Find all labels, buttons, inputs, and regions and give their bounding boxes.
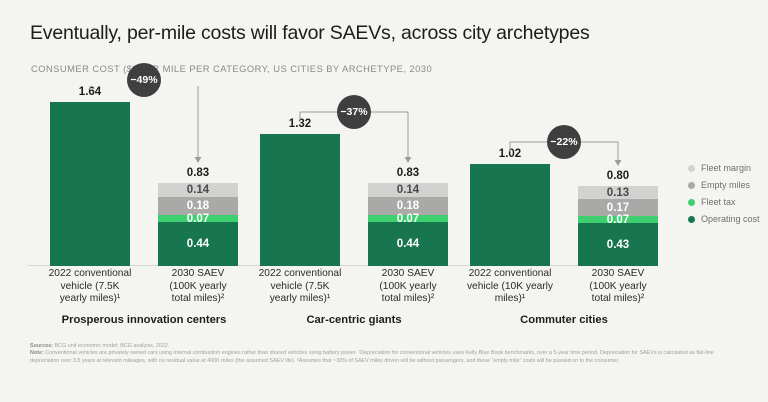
delta-badge: −37% bbox=[337, 95, 371, 129]
chart-legend: Fleet marginEmpty milesFleet taxOperatin… bbox=[688, 160, 768, 228]
legend-label: Fleet margin bbox=[701, 163, 751, 173]
x-axis-label: 2030 SAEV(100K yearlytotal miles)² bbox=[564, 268, 672, 306]
chart-subtitle: CONSUMER COST ($) PER MILE PER CATEGORY,… bbox=[31, 63, 432, 74]
legend-label: Fleet tax bbox=[701, 197, 736, 207]
bar-total-label: 1.64 bbox=[50, 86, 130, 98]
group-label: Commuter cities bbox=[454, 314, 674, 326]
bar-total-label: 1.02 bbox=[470, 148, 550, 160]
x-axis-label-line: 2022 conventional bbox=[246, 268, 354, 281]
chart-plot-area: 1.640.140.180.070.440.83−49%1.320.140.18… bbox=[28, 86, 658, 266]
x-axis-label-line: total miles)² bbox=[564, 293, 672, 306]
group-label: Car-centric giants bbox=[244, 314, 464, 326]
footnote-note-text: Conventional vehicles are privately owne… bbox=[30, 350, 714, 363]
x-axis-label-line: (100K yearly bbox=[354, 281, 462, 294]
bar-segment-operating-cost: 0.43 bbox=[578, 223, 658, 266]
bar-segment-total bbox=[50, 102, 130, 266]
footnote-sources-text: BCG unit economic model; BCG analysis, 2… bbox=[55, 343, 170, 349]
x-axis-label-line: 2022 conventional bbox=[36, 268, 144, 281]
x-axis-label-line: total miles)² bbox=[144, 293, 252, 306]
legend-item[interactable]: Fleet tax bbox=[688, 194, 768, 210]
delta-badge: −22% bbox=[547, 125, 581, 159]
bar-segment-operating-cost: 0.44 bbox=[368, 222, 448, 266]
x-axis-label-line: 2030 SAEV bbox=[354, 268, 462, 281]
bar-segment-fleet-margin: 0.14 bbox=[368, 183, 448, 197]
x-axis-label-line: yearly miles)¹ bbox=[246, 293, 354, 306]
bar-conventional bbox=[50, 102, 130, 266]
bar-total-label: 0.80 bbox=[578, 170, 658, 182]
x-axis-label: 2030 SAEV(100K yearlytotal miles)² bbox=[144, 268, 252, 306]
bar-total-label: 0.83 bbox=[158, 167, 238, 179]
legend-item[interactable]: Operating cost bbox=[688, 211, 768, 227]
bar-segment-total bbox=[260, 134, 340, 266]
legend-label: Operating cost bbox=[701, 214, 760, 224]
x-axis-label: 2022 conventionalvehicle (10K yearlymile… bbox=[456, 268, 564, 306]
legend-swatch-icon bbox=[688, 182, 695, 189]
x-axis-label: 2030 SAEV(100K yearlytotal miles)² bbox=[354, 268, 462, 306]
x-axis-label-line: 2022 conventional bbox=[456, 268, 564, 281]
x-axis-label-line: 2030 SAEV bbox=[144, 268, 252, 281]
bar-total-label: 0.83 bbox=[368, 167, 448, 179]
bar-segment-fleet-tax: 0.07 bbox=[158, 215, 238, 222]
bar-saev: 0.140.180.070.44 bbox=[158, 183, 238, 266]
group-label: Prosperous innovation centers bbox=[34, 314, 254, 326]
bar-segment-fleet-tax: 0.07 bbox=[578, 216, 658, 223]
footnote-note-label: Note: bbox=[30, 350, 44, 356]
x-axis-label-line: vehicle (7.5K bbox=[246, 281, 354, 294]
bar-total-label: 1.32 bbox=[260, 118, 340, 130]
footnote-sources: Sources: BCG unit economic model; BCG an… bbox=[30, 343, 742, 350]
bar-segment-operating-cost: 0.44 bbox=[158, 222, 238, 266]
bar-segment-fleet-margin: 0.14 bbox=[158, 183, 238, 197]
legend-label: Empty miles bbox=[701, 180, 750, 190]
legend-swatch-icon bbox=[688, 165, 695, 172]
footnote-sources-label: Sources: bbox=[30, 343, 53, 349]
x-axis-label-line: 2030 SAEV bbox=[564, 268, 672, 281]
x-axis-label-line: vehicle (10K yearly bbox=[456, 281, 564, 294]
x-axis-label: 2022 conventionalvehicle (7.5Kyearly mil… bbox=[246, 268, 354, 306]
bar-saev: 0.140.180.070.44 bbox=[368, 183, 448, 266]
footnote-note: Note: Conventional vehicles are privatel… bbox=[30, 350, 742, 365]
page-title: Eventually, per-mile costs will favor SA… bbox=[30, 22, 590, 45]
delta-badge: −49% bbox=[127, 63, 161, 97]
x-axis-labels: 2022 conventionalvehicle (7.5Kyearly mil… bbox=[28, 268, 658, 330]
footnotes: Sources: BCG unit economic model; BCG an… bbox=[30, 343, 742, 365]
x-axis-label-line: vehicle (7.5K bbox=[36, 281, 144, 294]
bar-conventional bbox=[260, 134, 340, 266]
x-axis-label-line: miles)¹ bbox=[456, 293, 564, 306]
bar-segment-total bbox=[470, 164, 550, 266]
bar-saev: 0.130.170.070.43 bbox=[578, 186, 658, 266]
legend-swatch-icon bbox=[688, 199, 695, 206]
x-axis-label-line: total miles)² bbox=[354, 293, 462, 306]
legend-item[interactable]: Empty miles bbox=[688, 177, 768, 193]
x-axis-label-line: yearly miles)¹ bbox=[36, 293, 144, 306]
x-axis-label: 2022 conventionalvehicle (7.5Kyearly mil… bbox=[36, 268, 144, 306]
x-axis-label-line: (100K yearly bbox=[144, 281, 252, 294]
chart-page: Eventually, per-mile costs will favor SA… bbox=[0, 0, 768, 402]
bar-segment-fleet-tax: 0.07 bbox=[368, 215, 448, 222]
legend-item[interactable]: Fleet margin bbox=[688, 160, 768, 176]
x-axis-label-line: (100K yearly bbox=[564, 281, 672, 294]
bar-segment-fleet-margin: 0.13 bbox=[578, 186, 658, 199]
legend-swatch-icon bbox=[688, 216, 695, 223]
bar-conventional bbox=[470, 164, 550, 266]
